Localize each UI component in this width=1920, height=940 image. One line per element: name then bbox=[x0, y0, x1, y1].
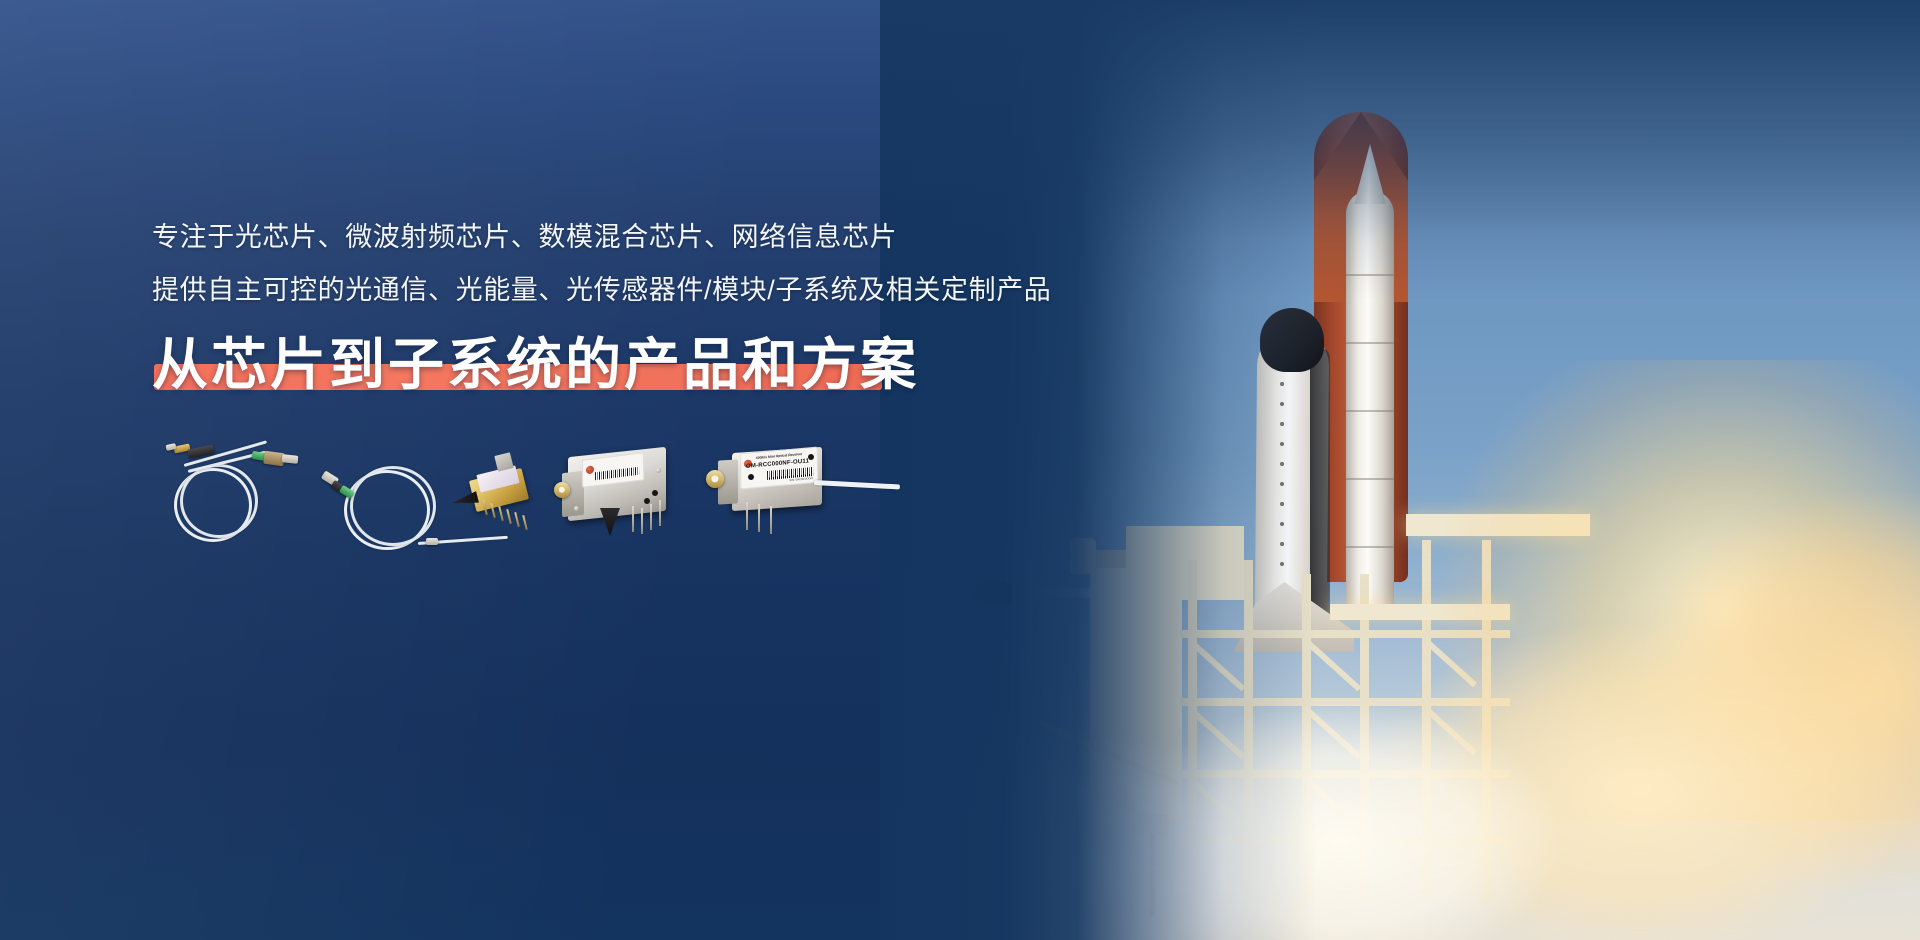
headline-wrap: 从芯片到子系统的产品和方案 bbox=[152, 334, 919, 397]
page-title: 从芯片到子系统的产品和方案 bbox=[152, 334, 919, 397]
hero-copy: 专注于光芯片、微波射频芯片、数模混合芯片、网络信息芯片 提供自主可控的光通信、光… bbox=[152, 224, 1112, 397]
brand-logo-icon bbox=[586, 465, 594, 474]
product-showcase-strip: 40Gb/s Mini Optical Receiver OM-RCC000NF… bbox=[150, 432, 890, 552]
product-fiber-pigtail-left bbox=[150, 440, 310, 548]
subtitle-line-2: 提供自主可控的光通信、光能量、光传感器件/模块/子系统及相关定制产品 bbox=[152, 277, 1112, 304]
receiver-label-serial: S/N: 0AC001XXXX bbox=[789, 476, 813, 482]
product-rf-module bbox=[548, 446, 688, 546]
hero-banner: 专注于光芯片、微波射频芯片、数模混合芯片、网络信息芯片 提供自主可控的光通信、光… bbox=[0, 0, 1920, 940]
subtitle-line-1: 专注于光芯片、微波射频芯片、数模混合芯片、网络信息芯片 bbox=[152, 224, 1112, 251]
product-butterfly-laser bbox=[450, 450, 560, 546]
space-shuttle-launch-photo bbox=[880, 0, 1920, 940]
product-optical-receiver: 40Gb/s Mini Optical Receiver OM-RCC000NF… bbox=[702, 446, 902, 550]
receiver-label: 40Gb/s Mini Optical Receiver OM-RCC000NF… bbox=[740, 447, 819, 490]
barcode-icon bbox=[595, 467, 639, 480]
